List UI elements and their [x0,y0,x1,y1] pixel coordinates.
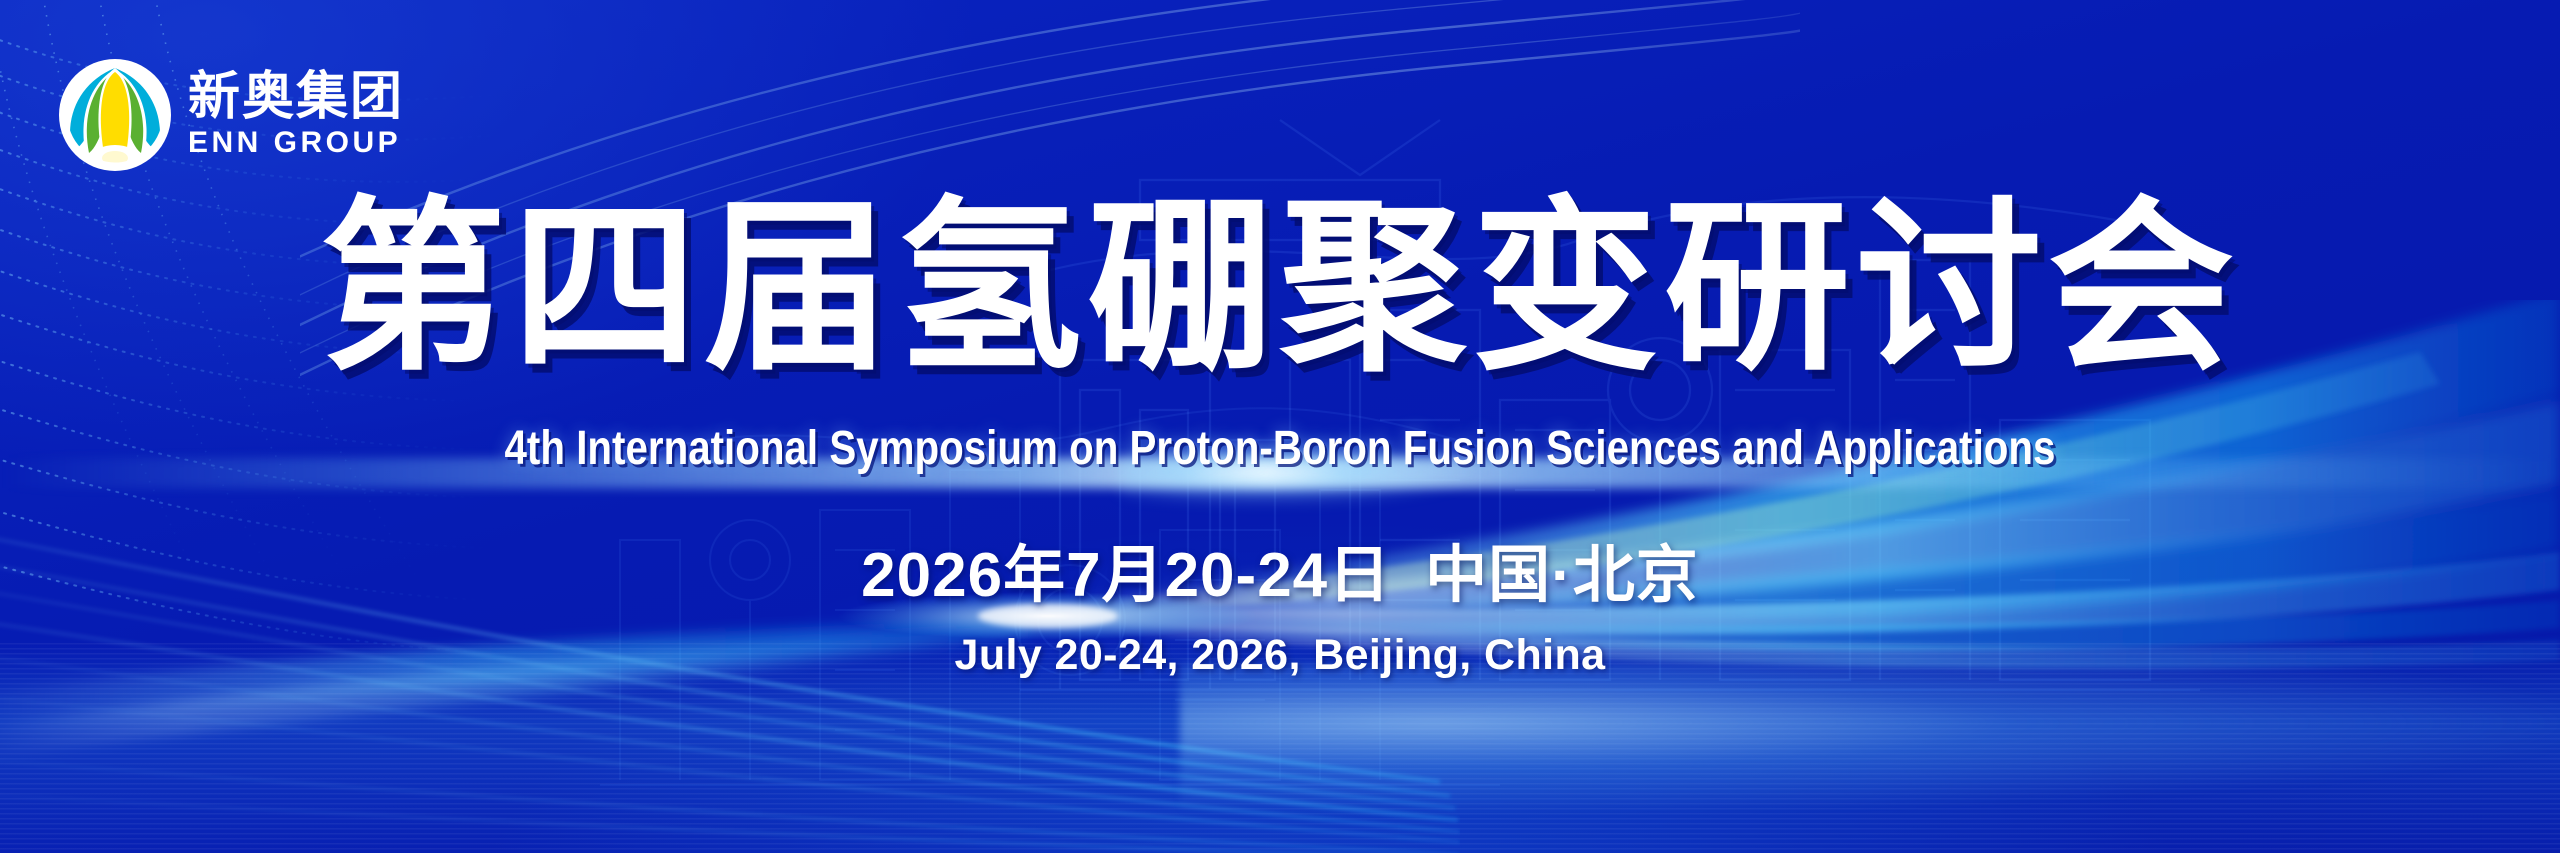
logo-company-en: ENN GROUP [188,126,404,159]
location-cn-text: 中国·北京 [1425,541,1699,610]
enn-globe-emblem-icon [56,56,174,174]
enn-group-logo[interactable]: 新奥集团 ENN GROUP [56,56,404,174]
conference-banner: 新奥集团 ENN GROUP 第四届氢硼聚变研讨会 4th Internatio… [0,0,2560,853]
conference-date-location-cn: 2026年7月20-24日中国·北京 [0,542,2560,610]
logo-wordmark: 新奥集团 ENN GROUP [188,71,404,159]
logo-company-cn: 新奥集团 [188,71,404,124]
water-glint [1180,663,2560,813]
conference-date-location-en: July 20-24, 2026, Beijing, China [0,632,2560,679]
date-cn-text: 2026年7月20-24日 [861,541,1391,610]
conference-title-en: 4th International Symposium on Proton-Bo… [205,423,2355,476]
conference-title-cn: 第四届氢硼聚变研讨会 [0,196,2560,382]
